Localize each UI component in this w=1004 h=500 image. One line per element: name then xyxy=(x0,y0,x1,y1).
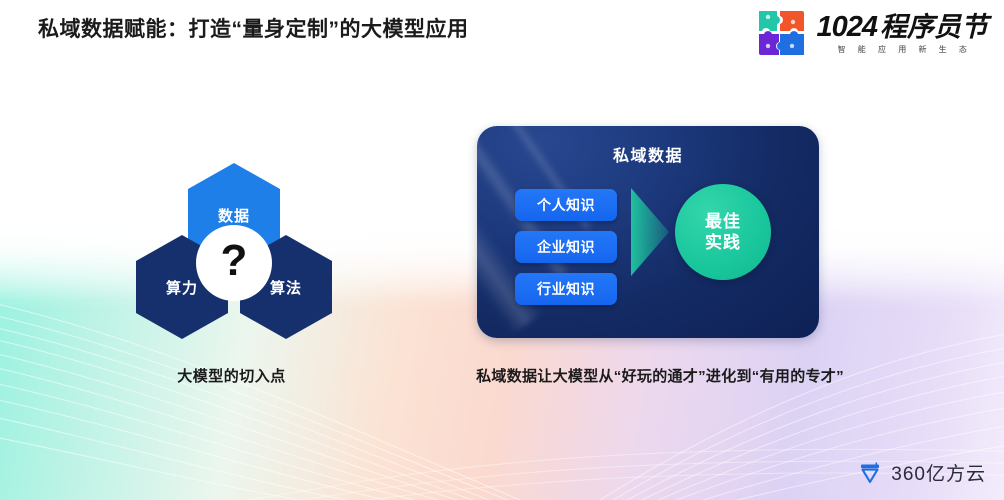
knowledge-pill-personal[interactable]: 个人知识 xyxy=(515,189,617,221)
knowledge-pill-personal-label: 个人知识 xyxy=(537,195,595,215)
best-practice-line2: 实践 xyxy=(705,232,741,253)
question-mark-label: ? xyxy=(221,239,248,283)
hexagon-cluster: 数据 算力 算法 ? xyxy=(126,163,341,338)
knowledge-pill-enterprise-label: 企业知识 xyxy=(537,237,595,257)
best-practice-circle: 最佳 实践 xyxy=(675,184,771,280)
brand-logo-number: 1024 xyxy=(816,13,877,42)
panel-title: 私域数据 xyxy=(477,142,819,166)
brand-logo: 1024 程序员节 智 能 应 用 新 生 态 xyxy=(756,8,988,58)
question-mark-badge: ? xyxy=(196,225,272,301)
hexagon-data-label: 数据 xyxy=(218,205,250,226)
page-title: 私域数据赋能：打造“量身定制”的大模型应用 xyxy=(38,13,469,43)
right-caption: 私域数据让大模型从“好玩的通才”进化到“有用的专才” xyxy=(420,365,900,386)
hexagon-compute-label: 算力 xyxy=(166,277,198,298)
knowledge-pill-industry[interactable]: 行业知识 xyxy=(515,273,617,305)
knowledge-pill-industry-label: 行业知识 xyxy=(537,279,595,299)
knowledge-pill-list: 个人知识 企业知识 行业知识 xyxy=(515,189,617,305)
footer-logo-text: 360亿方云 xyxy=(891,459,986,486)
slide-canvas: 私域数据赋能：打造“量身定制”的大模型应用 1024 程序员节 xyxy=(0,0,1004,500)
shield-box-icon xyxy=(858,461,882,485)
best-practice-line1: 最佳 xyxy=(705,211,741,232)
puzzle-icon xyxy=(756,8,808,58)
hexagon-algorithm-label: 算法 xyxy=(270,277,302,298)
brand-logo-tagline: 智 能 应 用 新 生 态 xyxy=(833,46,972,54)
brand-logo-name: 程序员节 xyxy=(880,14,988,41)
footer-logo: 360亿方云 xyxy=(858,459,986,486)
left-caption: 大模型的切入点 xyxy=(0,365,463,386)
chevron-right-icon xyxy=(629,188,673,276)
knowledge-pill-enterprise[interactable]: 企业知识 xyxy=(515,231,617,263)
private-data-panel: 私域数据 个人知识 企业知识 行业知识 最佳 实践 xyxy=(477,126,819,338)
